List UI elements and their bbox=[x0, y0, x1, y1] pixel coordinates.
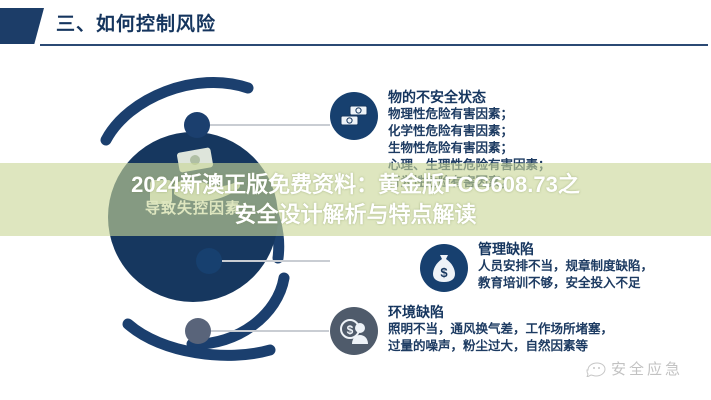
cluster-line: 过量的噪声，粉尘过大，自然因素等 bbox=[388, 338, 613, 355]
slide-header: 三、如何控制风险 bbox=[0, 0, 711, 52]
cluster-title: 管理缺陷 bbox=[478, 240, 653, 258]
cluster-title: 环境缺陷 bbox=[388, 303, 613, 321]
cluster-text: 管理缺陷 人员安排不当，规章制度缺陷， 教育培训不够，安全投入不足 bbox=[478, 240, 653, 292]
cluster-line: 照明不当，通风换气差，工作场所堵塞， bbox=[388, 321, 613, 338]
overlay-band bbox=[0, 163, 711, 236]
cluster-text: 环境缺陷 照明不当，通风换气差，工作场所堵塞， 过量的噪声，粉尘过大，自然因素等 bbox=[388, 303, 613, 355]
connector-bottom bbox=[211, 330, 329, 332]
page-title: 三、如何控制风险 bbox=[56, 9, 216, 36]
watermark-text: 安全应急 bbox=[611, 358, 683, 379]
cluster-line: 物理性危险有害因素； bbox=[388, 106, 551, 123]
node-bottom bbox=[185, 318, 211, 344]
slide-canvas: 三、如何控制风险 导致失控因素 bbox=[0, 0, 711, 400]
watermark: 安全应急 bbox=[586, 358, 683, 379]
cash-stack-icon bbox=[330, 92, 378, 140]
cluster-line: 教育培训不够，安全投入不足 bbox=[478, 275, 653, 292]
header-divider bbox=[40, 44, 708, 46]
node-top bbox=[184, 112, 210, 138]
cluster-line: 人员安排不当，规章制度缺陷， bbox=[478, 258, 653, 275]
node-middle bbox=[196, 248, 222, 274]
person-coin-icon: $ bbox=[330, 307, 378, 355]
cluster-title: 物的不安全状态 bbox=[388, 88, 551, 106]
header-tab-shape bbox=[0, 8, 44, 44]
connector-top bbox=[210, 124, 330, 126]
cluster-line: 生物性危险有害因素； bbox=[388, 140, 551, 157]
money-bag-icon: $ bbox=[420, 244, 468, 292]
cluster-line: 化学性危险有害因素； bbox=[388, 123, 551, 140]
connector-middle bbox=[222, 260, 330, 262]
svg-text:$: $ bbox=[440, 265, 448, 280]
smiley-face-icon bbox=[586, 361, 606, 377]
svg-text:$: $ bbox=[347, 323, 354, 337]
